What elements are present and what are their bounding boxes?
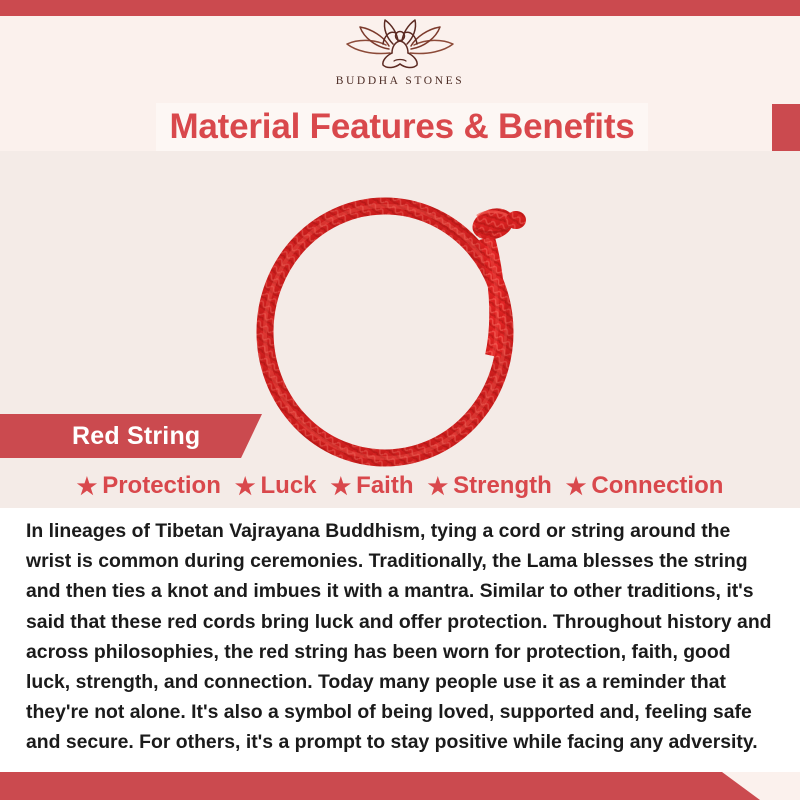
red-string-bracelet-image [235,180,565,480]
title-band: Material Features & Benefits [156,103,648,151]
brand-logo: BUDDHA STONES [336,16,464,87]
decorative-bottom-bar [0,772,800,800]
star-icon: ★ [77,475,98,498]
star-icon: ★ [566,475,587,498]
product-name-label: Red String [72,422,200,451]
feature-item-strength: ★ Strength [427,472,551,500]
feature-item-protection: ★ Protection [77,472,221,500]
page-title: Material Features & Benefits [169,107,634,147]
infographic-poster: BUDDHA STONES Material Features & Benefi… [0,0,800,800]
description-text: In lineages of Tibetan Vajrayana Buddhis… [26,516,772,758]
star-icon: ★ [331,475,352,498]
feature-list: ★ Protection ★ Luck ★ Faith ★ Strength ★… [0,466,800,506]
brand-header: BUDDHA STONES [0,16,800,104]
star-icon: ★ [235,475,256,498]
feature-item-luck: ★ Luck [235,472,317,500]
description-panel: In lineages of Tibetan Vajrayana Buddhis… [0,508,800,772]
brand-name: BUDDHA STONES [336,75,464,87]
feature-label: Connection [591,472,723,500]
decorative-top-bar [0,0,800,16]
star-icon: ★ [427,475,448,498]
lotus-meditation-icon [341,16,459,74]
feature-label: Faith [356,472,413,500]
feature-item-connection: ★ Connection [566,472,724,500]
product-name-banner: Red String [0,414,262,458]
feature-label: Strength [453,472,552,500]
feature-item-faith: ★ Faith [331,472,414,500]
feature-label: Luck [261,472,317,500]
feature-label: Protection [102,472,221,500]
